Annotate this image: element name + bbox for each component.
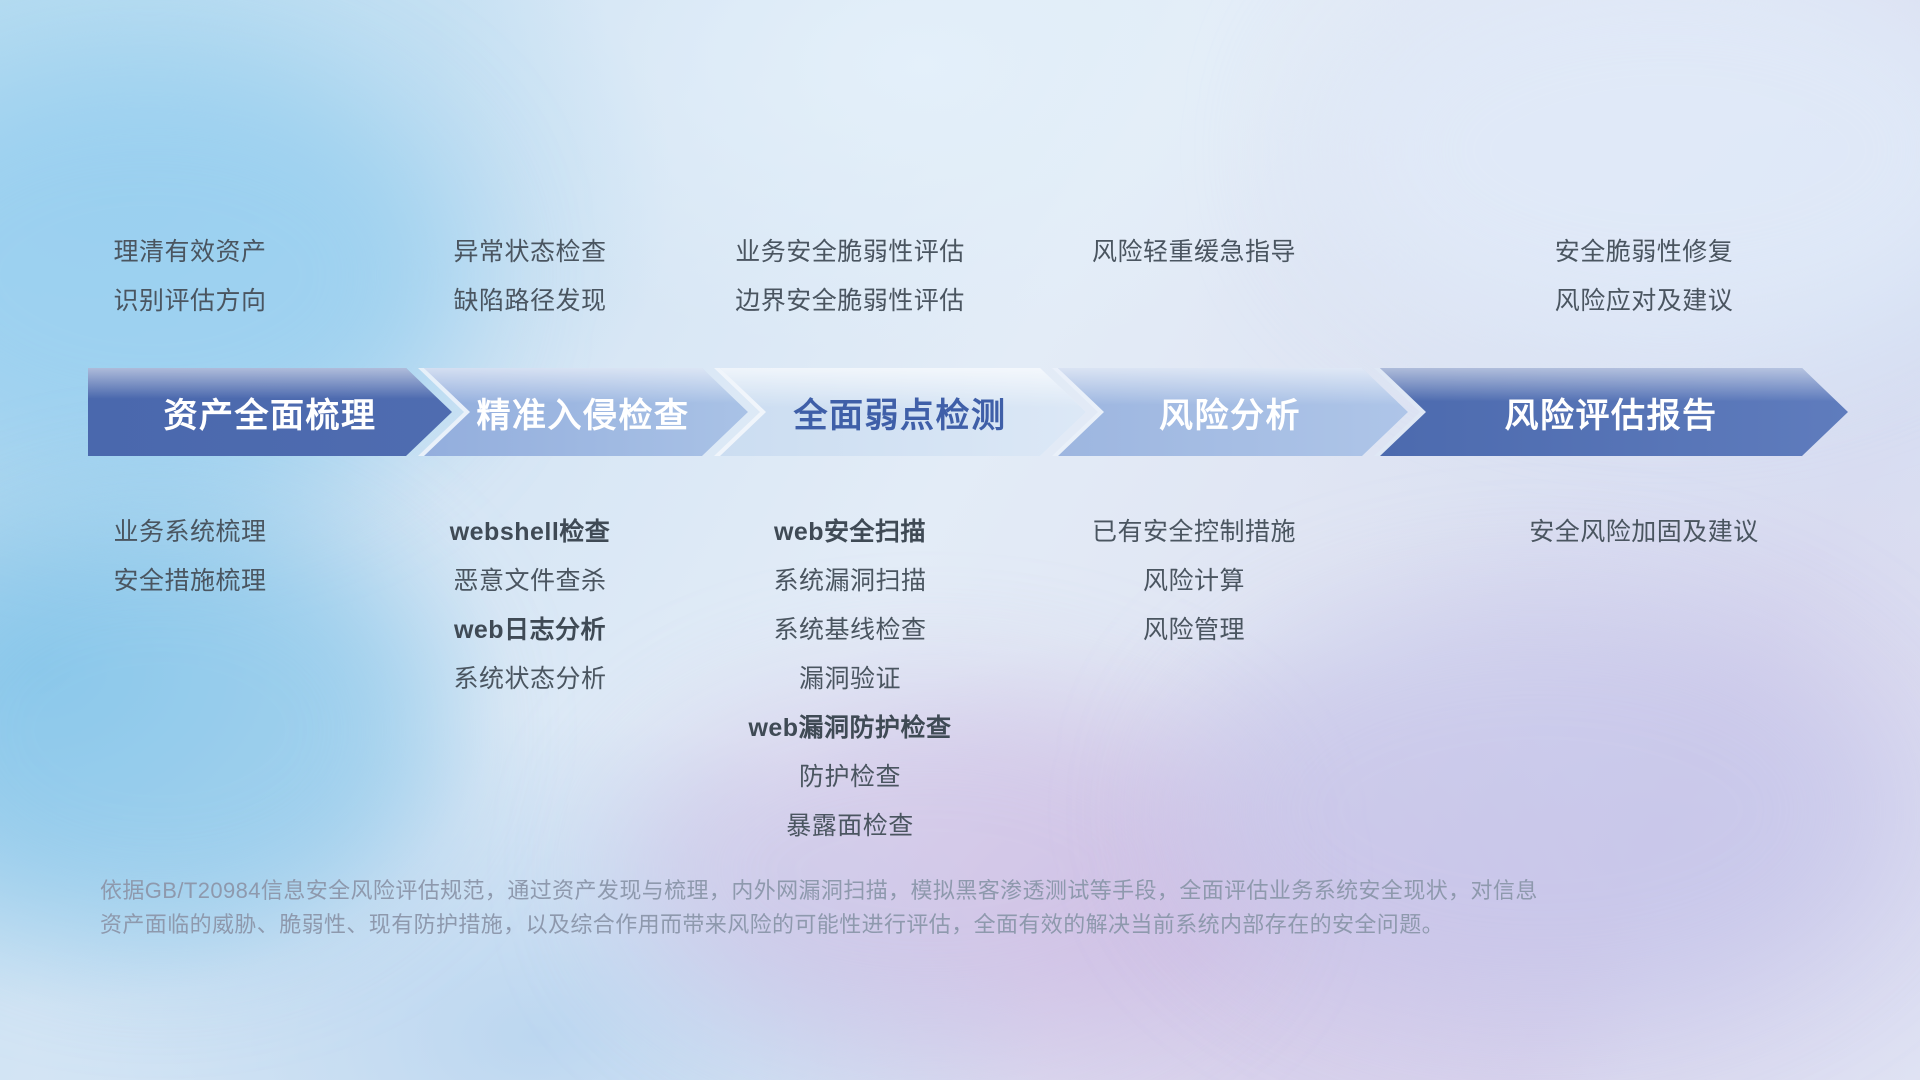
- list-item: 风险计算: [1020, 557, 1368, 606]
- list-item: 缺陷路径发现: [380, 277, 680, 326]
- bottom-details-stage-2: webshell检查 恶意文件查杀 web日志分析 系统状态分析: [380, 508, 680, 704]
- process-stage-label: 风险分析: [1159, 388, 1301, 437]
- list-item: 理清有效资产: [0, 228, 380, 277]
- list-item: 风险管理: [1020, 606, 1368, 655]
- list-item: web安全扫描: [680, 508, 1020, 557]
- list-item: 异常状态检查: [380, 228, 680, 277]
- list-item: 漏洞验证: [680, 655, 1020, 704]
- list-item: 系统基线检查: [680, 606, 1020, 655]
- top-descriptors-stage-3: 业务安全脆弱性评估 边界安全脆弱性评估: [680, 228, 1020, 326]
- list-item: 恶意文件查杀: [380, 557, 680, 606]
- process-stage-label: 精准入侵检查: [477, 388, 690, 437]
- process-stage-label: 资产全面梳理: [164, 388, 377, 437]
- footer-line-1: 依据GB/T20984信息安全风险评估规范，通过资产发现与梳理，内外网漏洞扫描，…: [100, 874, 1620, 908]
- slide-canvas: 理清有效资产 识别评估方向 异常状态检查 缺陷路径发现 业务安全脆弱性评估 边界…: [0, 0, 1920, 1080]
- bottom-details-stage-3: web安全扫描 系统漏洞扫描 系统基线检查 漏洞验证 web漏洞防护检查 防护检…: [680, 508, 1020, 851]
- list-item: 边界安全脆弱性评估: [680, 277, 1020, 326]
- list-item: 已有安全控制措施: [1020, 508, 1368, 557]
- process-stage-2[interactable]: 精准入侵检查: [418, 368, 748, 456]
- list-item: 系统状态分析: [380, 655, 680, 704]
- bottom-details-stage-1: 业务系统梳理 安全措施梳理: [0, 508, 380, 606]
- process-stage-label: 全面弱点检测: [794, 388, 1007, 437]
- process-stage-4[interactable]: 风险分析: [1052, 368, 1408, 456]
- footer-description: 依据GB/T20984信息安全风险评估规范，通过资产发现与梳理，内外网漏洞扫描，…: [100, 874, 1620, 942]
- list-item: 安全风险加固及建议: [1368, 508, 1920, 557]
- top-descriptors-stage-1: 理清有效资产 识别评估方向: [0, 228, 380, 326]
- list-item: web日志分析: [380, 606, 680, 655]
- list-item: 风险轻重缓急指导: [1020, 228, 1368, 277]
- list-item: 安全脆弱性修复: [1368, 228, 1920, 277]
- bottom-details-stage-5: 安全风险加固及建议: [1368, 508, 1920, 557]
- list-item: webshell检查: [380, 508, 680, 557]
- footer-line-2: 资产面临的威胁、脆弱性、现有防护措施，以及综合作用而带来风险的可能性进行评估，全…: [100, 908, 1620, 942]
- top-descriptors-row: 理清有效资产 识别评估方向 异常状态检查 缺陷路径发现 业务安全脆弱性评估 边界…: [0, 228, 1920, 326]
- list-item: 业务安全脆弱性评估: [680, 228, 1020, 277]
- list-item: 风险应对及建议: [1368, 277, 1920, 326]
- process-stage-label: 风险评估报告: [1505, 388, 1718, 437]
- list-item: 暴露面检查: [680, 802, 1020, 851]
- process-stage-1[interactable]: 资产全面梳理: [88, 368, 452, 456]
- bottom-details-stage-4: 已有安全控制措施 风险计算 风险管理: [1020, 508, 1368, 655]
- top-descriptors-stage-5: 安全脆弱性修复 风险应对及建议: [1368, 228, 1920, 326]
- bottom-details-row: 业务系统梳理 安全措施梳理 webshell检查 恶意文件查杀 web日志分析 …: [0, 508, 1920, 851]
- process-stage-3[interactable]: 全面弱点检测: [714, 368, 1086, 456]
- process-chevron-band: 资产全面梳理: [88, 368, 1848, 456]
- process-stage-5[interactable]: 风险评估报告: [1374, 368, 1848, 456]
- list-item: 防护检查: [680, 753, 1020, 802]
- list-item: 系统漏洞扫描: [680, 557, 1020, 606]
- list-item: 安全措施梳理: [0, 557, 380, 606]
- top-descriptors-stage-4: 风险轻重缓急指导: [1020, 228, 1368, 326]
- list-item: web漏洞防护检查: [680, 704, 1020, 753]
- list-item: 识别评估方向: [0, 277, 380, 326]
- list-item: 业务系统梳理: [0, 508, 380, 557]
- top-descriptors-stage-2: 异常状态检查 缺陷路径发现: [380, 228, 680, 326]
